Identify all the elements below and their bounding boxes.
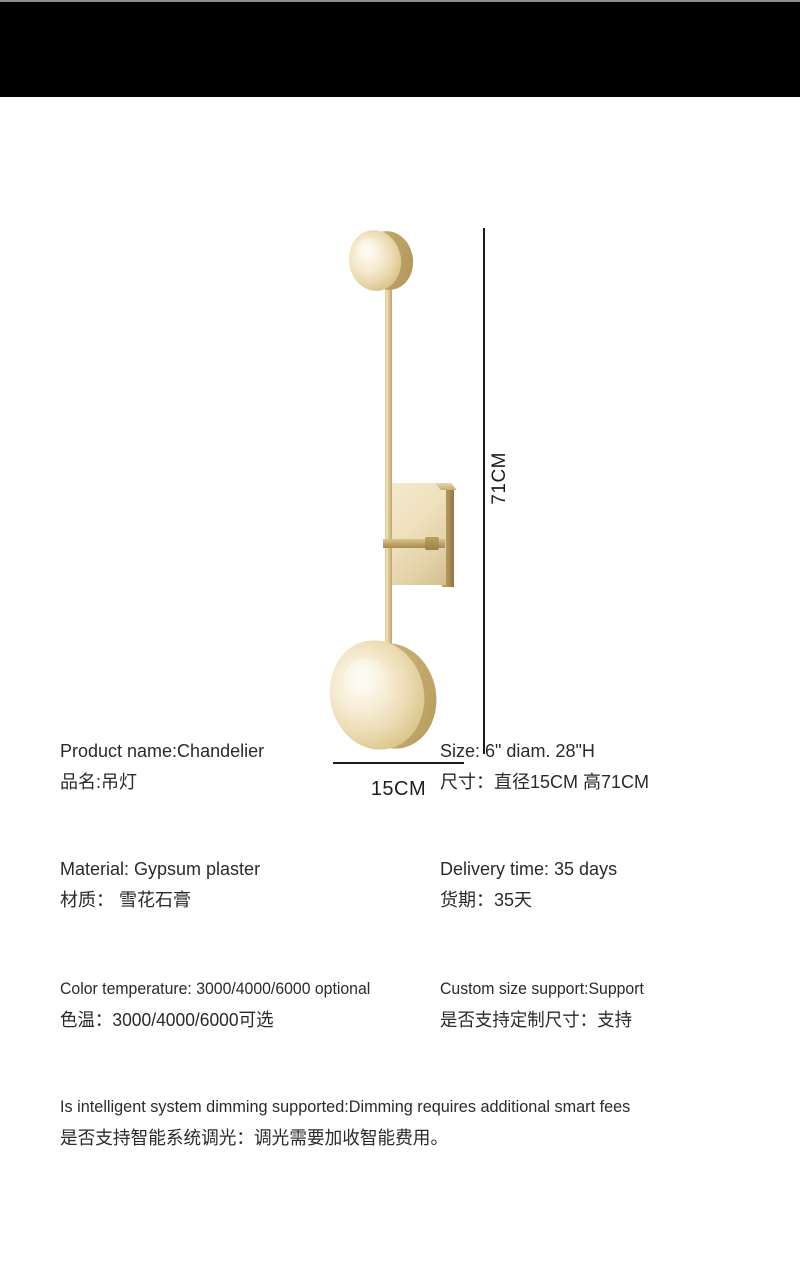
height-dimension-label: 71CM [489,452,511,505]
spec-delivery-time-cn: 货期：35天 [440,884,617,916]
dimming-support-note: Is intelligent system dimming supported:… [60,1092,760,1154]
spec-material-cn: 材质： 雪花石膏 [60,884,260,916]
top-disc-highlight [356,238,382,264]
spec-size: Size: 6" diam. 28"H 尺寸：直径15CM 高71CM [440,736,649,798]
letterbox-top-bar [0,0,800,97]
dimming-support-note-en: Is intelligent system dimming supported:… [60,1092,729,1122]
top-alabaster-disc [349,230,413,292]
height-dimension-line [483,228,485,754]
arm-end-cap [425,537,439,550]
spec-color-temperature: Color temperature: 3000/4000/6000 option… [60,974,394,1036]
spec-size-cn: 尺寸：直径15CM 高71CM [440,766,649,798]
brass-vertical-rod [385,280,392,655]
product-spec-page: 71CM 15CM Product name:Chandelier 品名:吊灯 … [0,0,800,1273]
spec-delivery-time: Delivery time: 35 days 货期：35天 [440,854,617,916]
letterbox-hairline [0,0,800,2]
spec-size-en: Size: 6" diam. 28"H [440,736,649,766]
spec-custom-size-support: Custom size support:Support 是否支持定制尺寸：支持 [440,974,659,1036]
spec-custom-size-support-cn: 是否支持定制尺寸：支持 [440,1004,653,1036]
spec-product-name-en: Product name:Chandelier [60,736,264,766]
spec-custom-size-support-en: Custom size support:Support [440,974,644,1004]
dimming-support-note-cn: 是否支持智能系统调光：调光需要加收智能费用。 [60,1122,746,1154]
spec-product-name-cn: 品名:吊灯 [60,766,264,798]
bottom-alabaster-disc [330,640,440,754]
spec-material: Material: Gypsum plaster 材质： 雪花石膏 [60,854,260,916]
spec-color-temperature-en: Color temperature: 3000/4000/6000 option… [60,974,370,1004]
spec-delivery-time-en: Delivery time: 35 days [440,854,617,884]
bottom-disc-highlight [344,658,388,702]
product-illustration: 71CM 15CM [0,97,800,717]
wall-mount-backplate [392,483,454,587]
spec-color-temperature-cn: 色温：3000/4000/6000可选 [60,1004,384,1036]
spec-material-en: Material: Gypsum plaster [60,854,260,884]
backplate-front-face [392,483,446,585]
spec-product-name: Product name:Chandelier 品名:吊灯 [60,736,264,798]
